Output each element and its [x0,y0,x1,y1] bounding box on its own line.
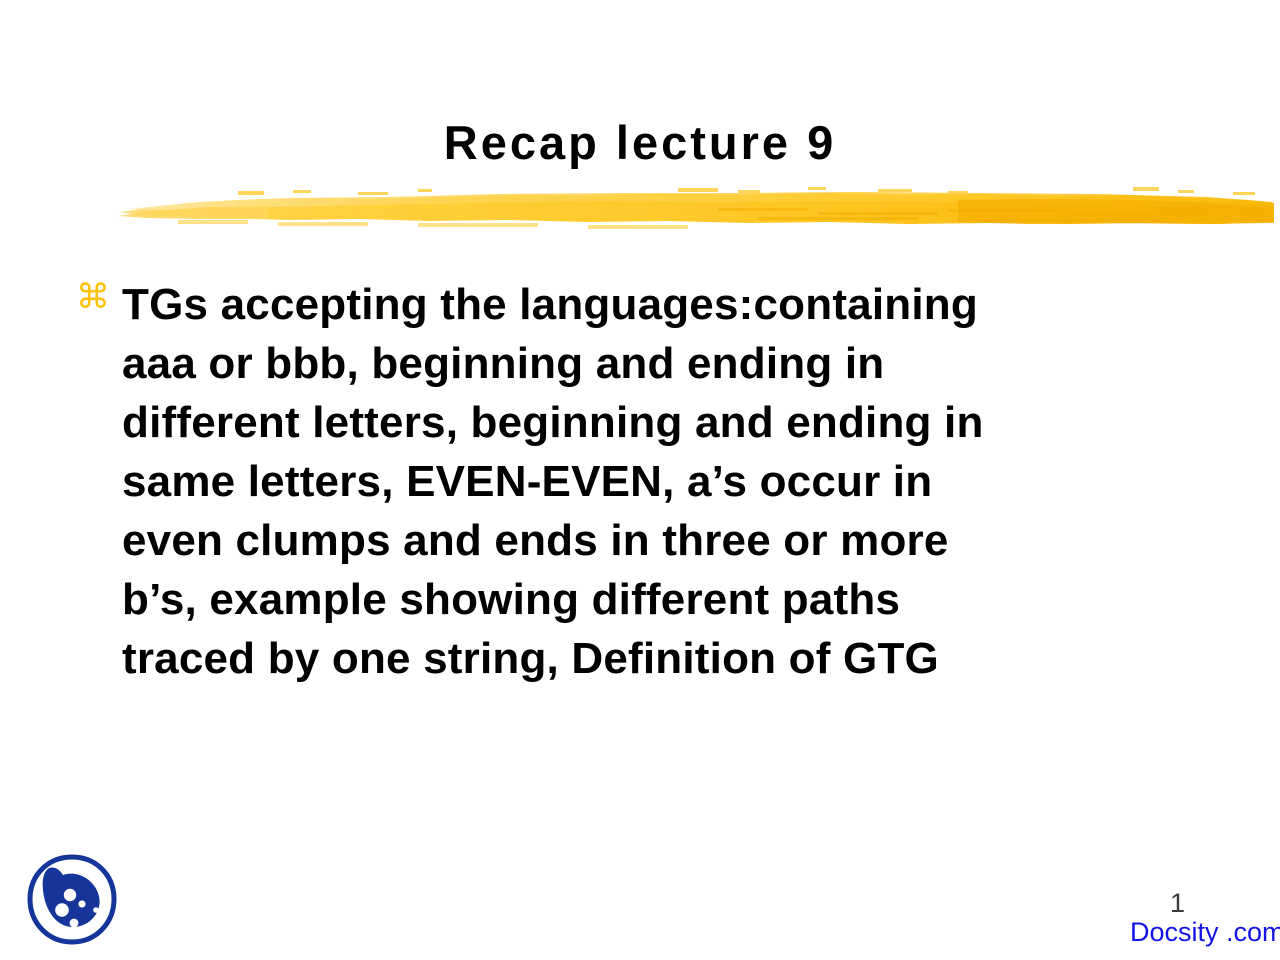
slide-number: 1 [1170,890,1185,917]
command-bullet-icon: ⌘ [76,280,110,314]
bullet-text: TGs accepting the languages:containing a… [70,275,1230,688]
bullet-item: ⌘ TGs accepting the languages:containing… [70,275,1230,688]
bullet-line: aaa or bbb, beginning and ending in [122,334,1230,393]
slide-canvas: Recap lecture 9 [0,0,1280,960]
docsity-watermark: Docsity .com [1130,919,1280,946]
bullet-line: TGs accepting the languages:containing [122,275,1230,334]
bullet-line: traced by one string, Definition of GTG [122,629,1230,688]
body-content: ⌘ TGs accepting the languages:containing… [70,275,1230,688]
bullet-line: b’s, example showing different paths [122,570,1230,629]
bullet-line: different letters, beginning and ending … [122,393,1230,452]
yellow-brush-underline [118,178,1276,236]
bullet-line: even clumps and ends in three or more [122,511,1230,570]
docsity-logo-icon [22,850,122,950]
title-block: Recap lecture 9 [0,118,1280,167]
page-title: Recap lecture 9 [0,118,1280,167]
bullet-line: same letters, EVEN-EVEN, a’s occur in [122,452,1230,511]
